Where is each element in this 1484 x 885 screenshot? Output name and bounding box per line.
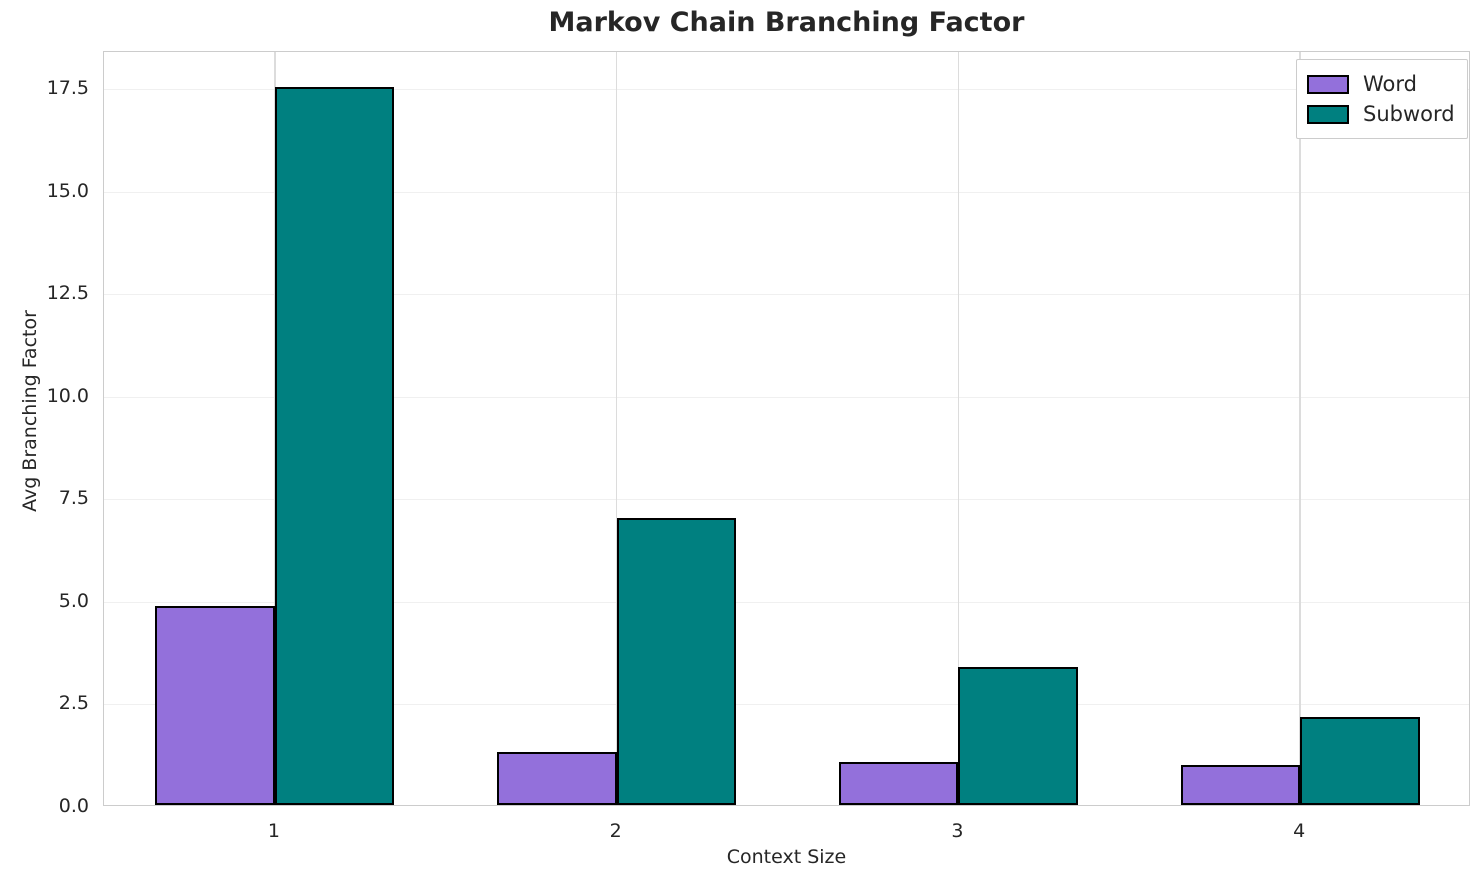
legend-swatch-word-icon (1307, 75, 1349, 94)
bar-word-1[interactable] (155, 606, 275, 805)
plot-area (103, 51, 1470, 806)
bar-subword-4[interactable] (1300, 717, 1420, 805)
legend-label: Word (1363, 72, 1417, 96)
bar-word-4[interactable] (1181, 765, 1301, 805)
bar-subword-1[interactable] (275, 87, 395, 805)
bar-subword-3[interactable] (958, 667, 1078, 805)
chart-title: Markov Chain Branching Factor (103, 6, 1470, 40)
bars-layer (104, 52, 1469, 805)
legend-item-word[interactable]: Word (1307, 69, 1455, 99)
y-tick-label: 17.5 (47, 77, 89, 99)
y-tick-label: 2.5 (59, 692, 89, 714)
y-axis-label: Avg Branching Factor (19, 211, 41, 611)
bar-word-2[interactable] (497, 752, 617, 805)
y-axis: Avg Branching Factor 0.0 2.5 5.0 7.5 10.… (0, 0, 103, 885)
x-tick-label: 3 (951, 820, 963, 842)
y-tick-label: 15.0 (47, 180, 89, 202)
y-tick-label: 0.0 (59, 795, 89, 817)
bar-subword-2[interactable] (617, 518, 737, 805)
legend-item-subword[interactable]: Subword (1307, 99, 1455, 129)
y-tick-label: 12.5 (47, 282, 89, 304)
y-tick-label: 5.0 (59, 590, 89, 612)
legend-swatch-subword-icon (1307, 105, 1349, 124)
x-tick-label: 1 (268, 820, 280, 842)
chart-legend: Word Subword (1296, 59, 1468, 139)
x-tick-label: 4 (1293, 820, 1305, 842)
y-tick-label: 7.5 (59, 487, 89, 509)
x-axis-label: Context Size (103, 846, 1470, 868)
x-tick-label: 2 (610, 820, 622, 842)
legend-label: Subword (1363, 102, 1455, 126)
chart-figure: Markov Chain Branching Factor Avg Branch… (0, 0, 1484, 885)
bar-word-3[interactable] (839, 762, 959, 805)
y-tick-label: 10.0 (47, 385, 89, 407)
